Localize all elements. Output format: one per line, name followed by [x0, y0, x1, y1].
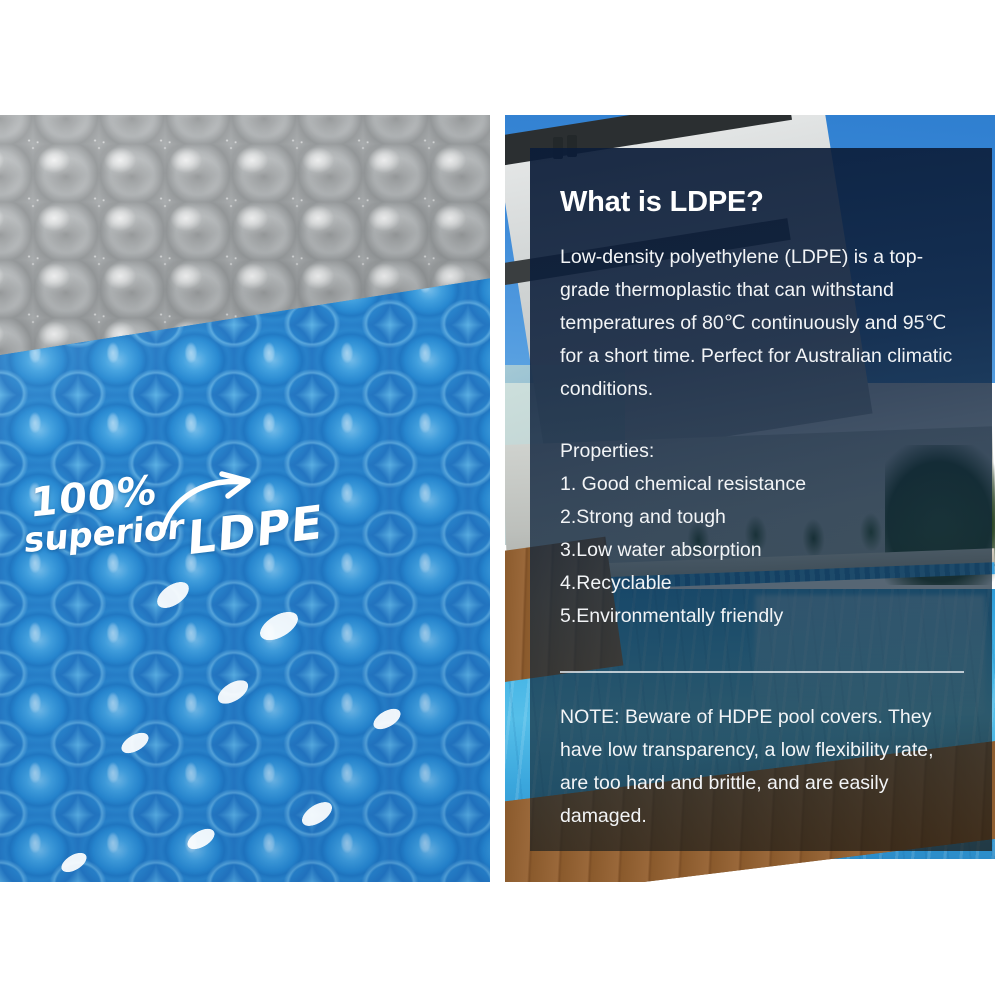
list-item: 1. Good chemical resistance: [560, 468, 962, 501]
handwritten-annotation: 100% superior LDPE: [24, 470, 324, 580]
list-item: 3.Low water absorption: [560, 534, 962, 567]
curved-arrow-icon: [158, 470, 268, 532]
list-item: 4.Recyclable: [560, 567, 962, 600]
info-overlay-card: What is LDPE? Low-density polyethylene (…: [530, 148, 992, 851]
list-item: 5.Environmentally friendly: [560, 600, 962, 633]
bubble-film-photo-panel: 100% superior LDPE: [0, 115, 490, 882]
list-item: 2.Strong and tough: [560, 501, 962, 534]
section-divider: [560, 671, 964, 673]
note-text: NOTE: Beware of HDPE pool covers. They h…: [560, 701, 962, 833]
product-infographic: 100% superior LDPE What is LDPE?: [0, 0, 1000, 1000]
ldpe-description: Low-density polyethylene (LDPE) is a top…: [560, 241, 962, 406]
panel-title: What is LDPE?: [560, 186, 962, 219]
ldpe-info-panel: What is LDPE? Low-density polyethylene (…: [505, 115, 995, 882]
properties-list: 1. Good chemical resistance 2.Strong and…: [560, 468, 962, 633]
properties-heading: Properties:: [560, 436, 962, 466]
